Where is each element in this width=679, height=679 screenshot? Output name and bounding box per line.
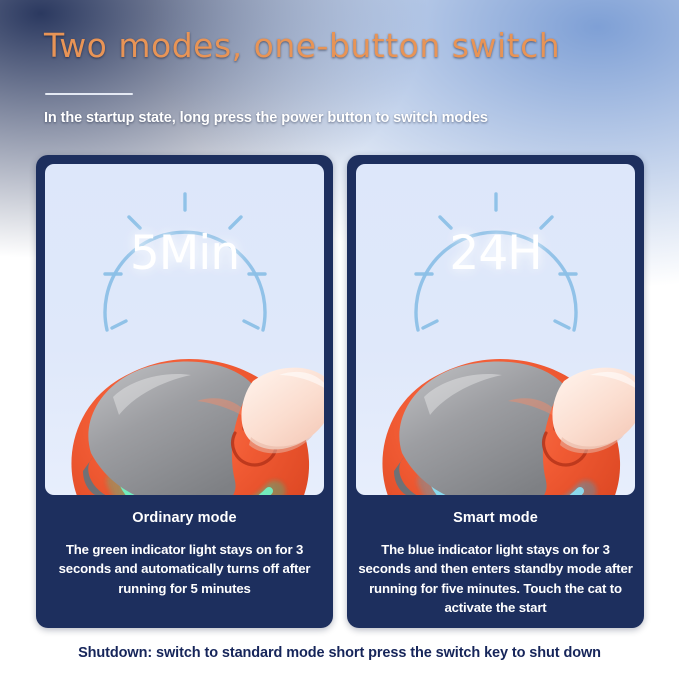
mode-description-smart: The blue indicator light stays on for 3 … xyxy=(356,540,635,617)
timer-label: 5Min xyxy=(45,226,324,281)
page-subtitle: In the startup state, long press the pow… xyxy=(44,110,488,126)
mode-title-ordinary: Ordinary mode xyxy=(36,510,333,526)
mode-card-smart: 24H xyxy=(347,155,644,628)
shutdown-note: Shutdown: switch to standard mode short … xyxy=(0,645,679,661)
title-divider xyxy=(45,93,133,95)
timer-label: 24H xyxy=(356,226,635,281)
page-title: Two modes, one-button switch xyxy=(44,26,560,65)
mode-title-smart: Smart mode xyxy=(347,510,644,526)
mode-card-ordinary: 5Min xyxy=(36,155,333,628)
product-photo-ordinary: 5Min xyxy=(45,164,324,495)
infographic-canvas: Two modes, one-button switch In the star… xyxy=(0,0,679,679)
product-photo-smart: 24H xyxy=(356,164,635,495)
mode-description-ordinary: The green indicator light stays on for 3… xyxy=(50,540,319,598)
massager-device-green xyxy=(45,341,324,495)
massager-device-blue xyxy=(356,341,635,495)
